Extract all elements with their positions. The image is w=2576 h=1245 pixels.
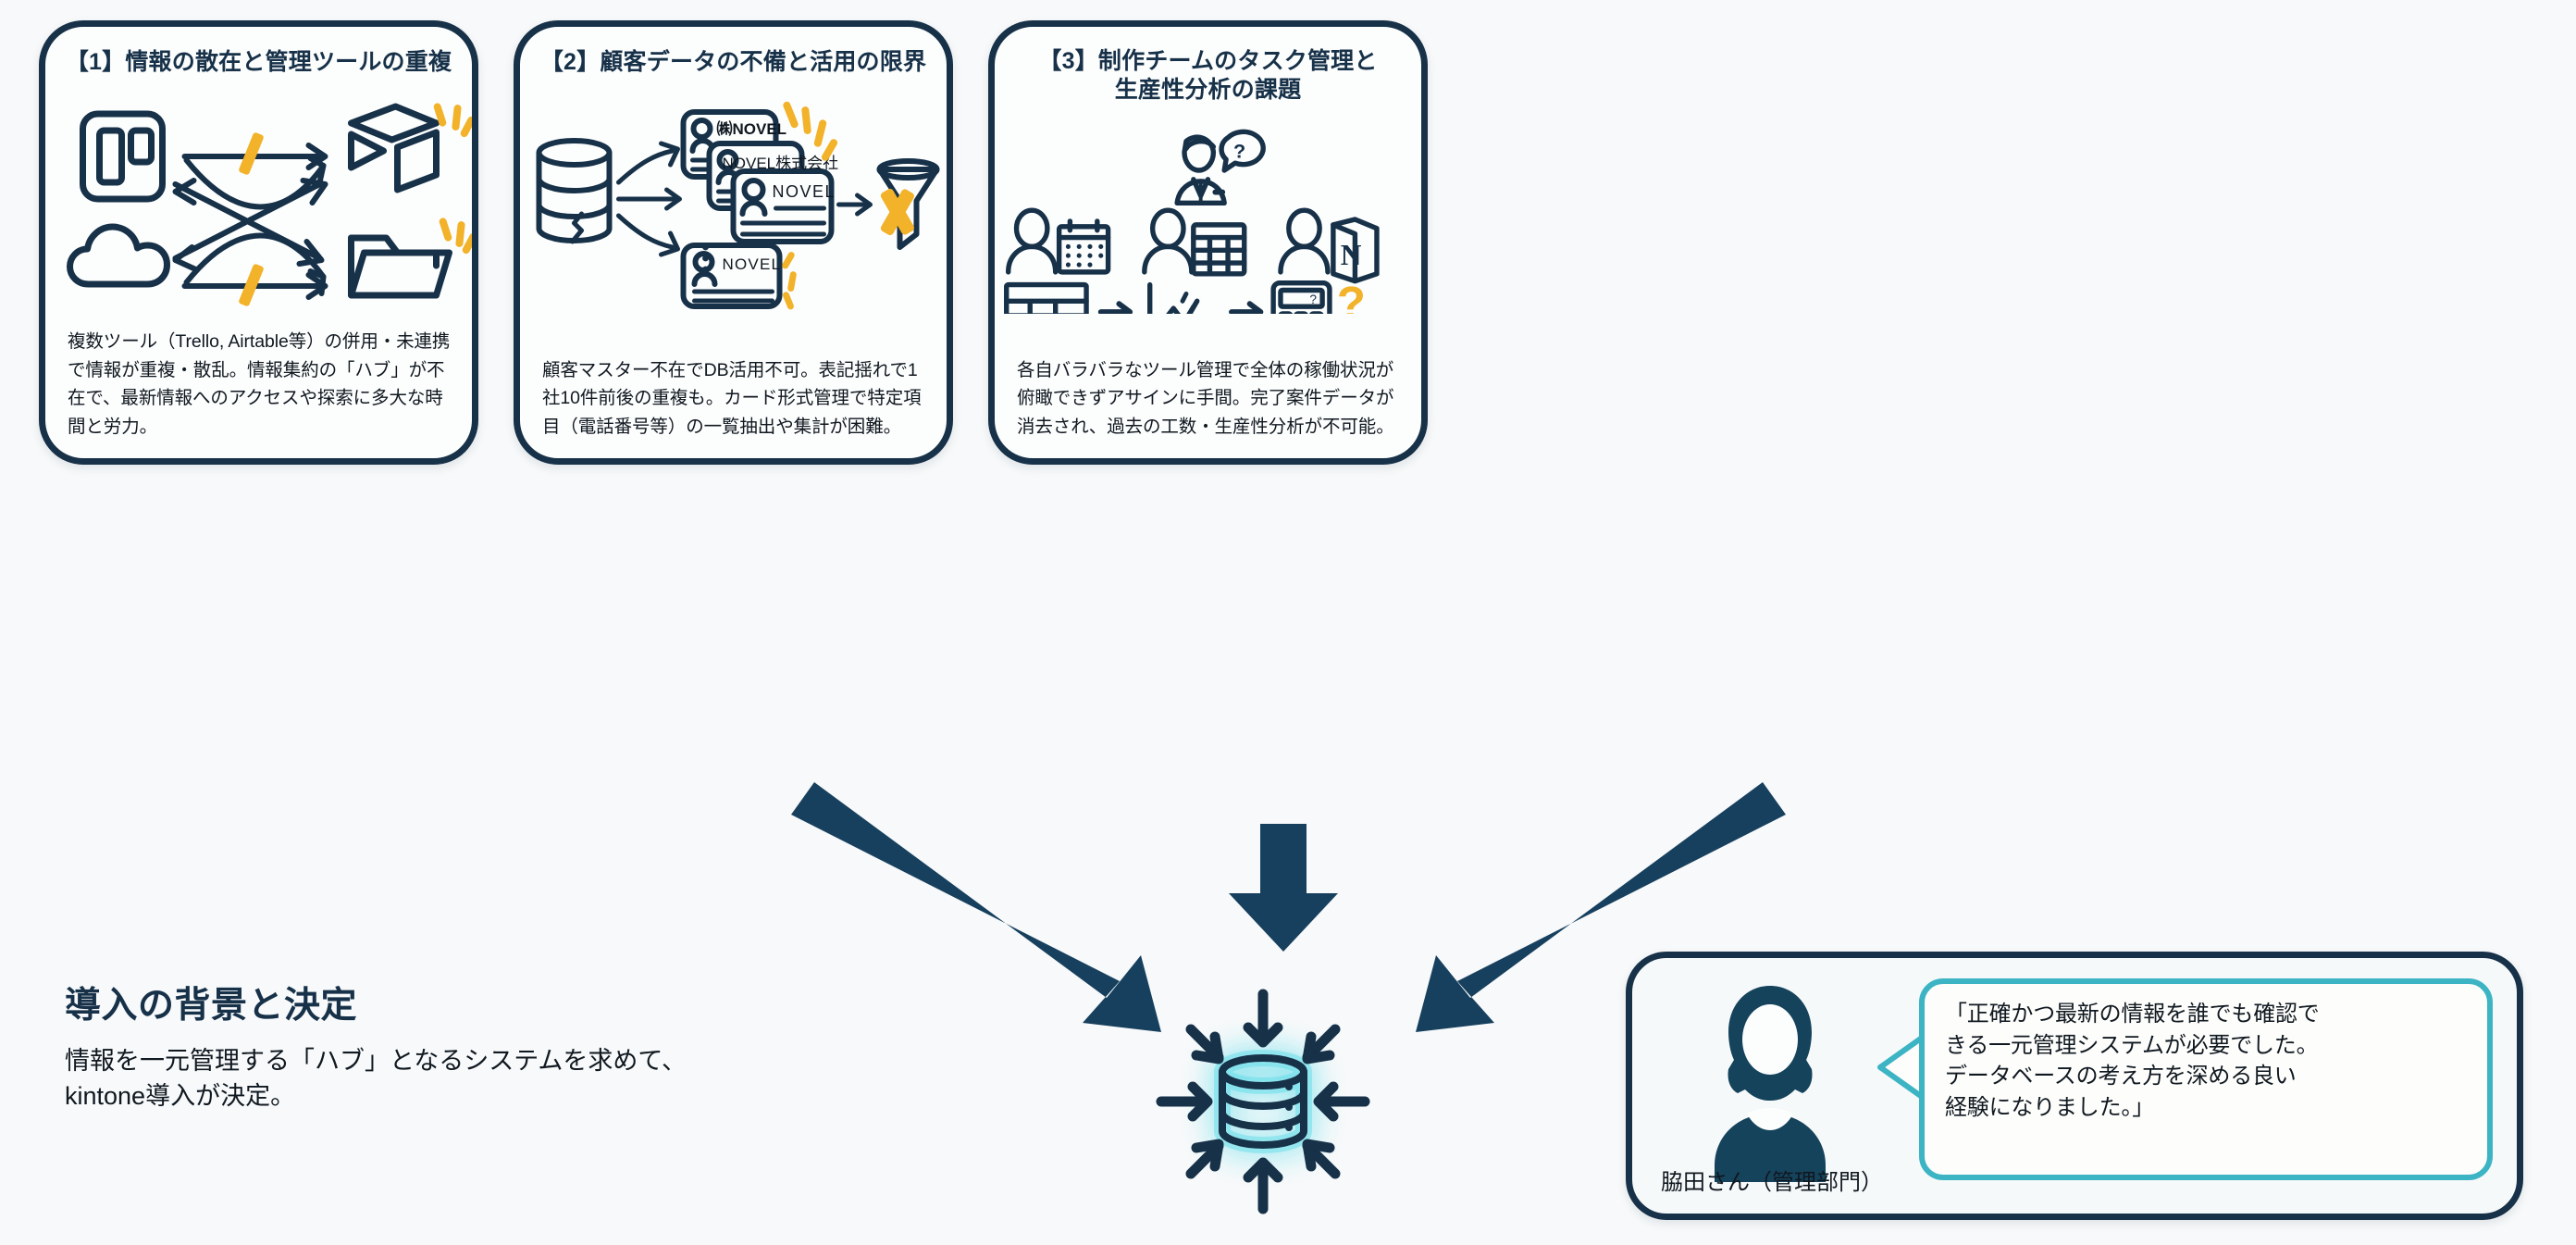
hub-database-icon [1222, 1058, 1304, 1145]
quote-line-3: データベースの考え方を深める良い [1945, 1061, 2469, 1092]
svg-text:NOVEL: NOVEL [773, 182, 836, 201]
svg-text:㈱NOVEL: ㈱NOVEL [717, 119, 787, 138]
avatar [1673, 975, 1867, 1188]
card-3-title: 【3】制作チームのタスク管理と 生産性分析の課題 [995, 47, 1421, 104]
intro-text: 情報を一元管理する「ハブ」となるシステムを求めて、 kintone導入が決定。 [65, 1043, 805, 1114]
intro-text-line-1: 情報を一元管理する「ハブ」となるシステムを求めて、 [65, 1047, 687, 1075]
calculator-display-value: ? [1309, 293, 1317, 306]
card-3-title-line-1: 【3】制作チームのタスク管理と [1008, 47, 1408, 76]
card-1-illustration [45, 99, 472, 312]
notion-letter-n: N [1341, 239, 1362, 271]
yellow-burst-bottom [439, 217, 472, 255]
trello-icon [83, 114, 163, 199]
spreadsheet-icon [1007, 285, 1086, 314]
person-notion-icon [1281, 210, 1377, 281]
quote-line-1: 「正確かつ最新の情報を誰でも確認で [1945, 999, 2469, 1030]
intro-block: 導入の背景と決定 情報を一元管理する「ハブ」となるシステムを求めて、 kinto… [65, 977, 805, 1114]
testimonial-panel: 脇田さん（管理部門） 「正確かつ最新の情報を誰でも確認で きる一元管理システムが… [1626, 952, 2523, 1220]
person-calendar-icon [1009, 210, 1108, 272]
cloud-icon [70, 227, 167, 284]
arrow-to-funnel [839, 195, 871, 214]
card-3-title-line-2: 生産性分析の課題 [1008, 76, 1408, 105]
yellow-question-mark: ? [1337, 277, 1366, 314]
quote-line-2: きる一元管理システムが必要でした。 [1945, 1030, 2469, 1062]
database-cracked-icon [539, 141, 610, 242]
intro-text-line-2: kintone導入が決定。 [65, 1082, 295, 1110]
card-3-body: 各自バラバラなツール管理で全体の稼働状況が俯瞰できずアサインに手間。完了案件デー… [1017, 356, 1401, 442]
ellipsis-dots [702, 244, 709, 273]
calculator-icon [1273, 283, 1330, 314]
quote-line-4: 経験になりました。」 [1945, 1092, 2469, 1124]
person-name-label: 脇田さん（管理部門） [1647, 1164, 1897, 1196]
svg-text:NOVEL株式会社: NOVEL株式会社 [723, 155, 839, 172]
yellow-burst-card2b [781, 251, 797, 311]
manager-question-icon [1177, 131, 1263, 203]
hub-inward-arrows [1161, 994, 1365, 1209]
contact-card-label-2: NOVEL株式会社 [723, 155, 839, 172]
problem-card-1: 【1】情報の散在と管理ツールの重複 [39, 20, 478, 465]
calendar-dots [1066, 244, 1103, 268]
hub-database-graphic [1124, 963, 1402, 1240]
card-2-body: 顧客マスター不在でDB活用不可。表記揺れで1社10件前後の重複も。カード形式管理… [542, 356, 926, 442]
card-1-body: 複数ツール（Trello, Airtable等）の併用・未連携で情報が重複・散乱… [68, 328, 452, 442]
contact-card-label-1: ㈱NOVEL [717, 119, 787, 138]
arrow-card2-to-hub [1229, 824, 1338, 952]
problem-card-2: 【2】顧客データの不備と活用の限界 [514, 20, 953, 465]
infographic-canvas: 【1】情報の散在と管理ツールの重複 [0, 0, 2576, 1245]
contact-card-label-3: NOVEL [773, 182, 836, 201]
db-fanout-arrows [619, 143, 680, 255]
arrow-right-1 [1101, 304, 1130, 314]
contact-card-icon-4 [684, 245, 780, 306]
problem-card-3: 【3】制作チームのタスク管理と 生産性分析の課題 ? [988, 20, 1428, 465]
testimonial-quote-bubble: 「正確かつ最新の情報を誰でも確認で きる一元管理システムが必要でした。 データベ… [1919, 978, 2493, 1180]
person-spreadsheet-icon [1145, 210, 1245, 274]
question-mark-glyph: ? [1233, 139, 1245, 162]
arrow-card1-to-hub [791, 782, 1161, 1032]
folder-icon [352, 238, 450, 295]
line-chart-broken-icon [1150, 285, 1218, 314]
card-3-illustration: ? [995, 123, 1421, 314]
card-1-title: 【1】情報の散在と管理ツールの重複 [45, 47, 472, 78]
airtable-cube-icon [352, 106, 437, 190]
contact-card-label-4: NOVEL [723, 255, 782, 273]
svg-text:NOVEL: NOVEL [723, 255, 782, 273]
intro-heading: 導入の背景と決定 [65, 977, 805, 1028]
arrow-right-2 [1232, 304, 1260, 314]
card-2-illustration: ㈱NOVEL NOVEL株式会社 NOVEL NOVEL [520, 99, 947, 312]
card-2-title: 【2】顧客データの不備と活用の限界 [520, 47, 947, 78]
